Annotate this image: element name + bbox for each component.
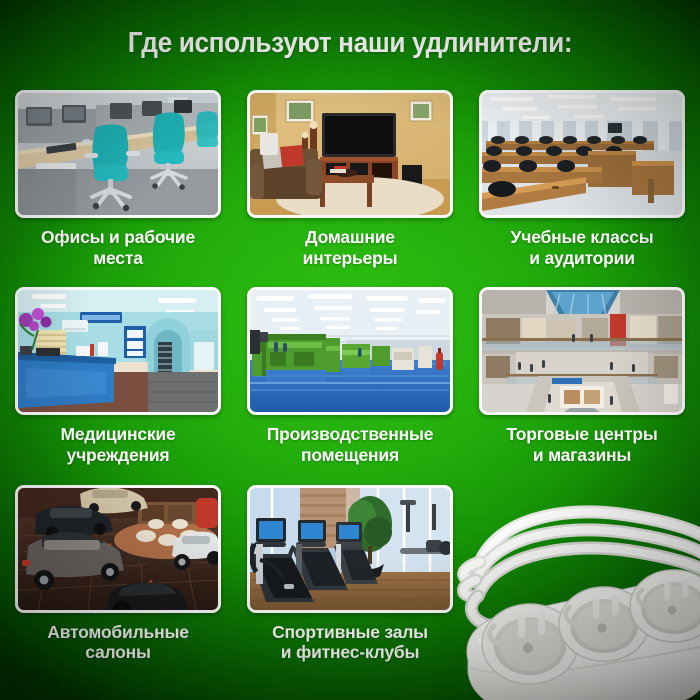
caption-line-1: Торговые центры (506, 424, 657, 445)
caption-line-1: Домашние (303, 227, 398, 248)
caption-line-2: помещения (267, 445, 433, 466)
card-image-frame (15, 90, 221, 218)
card-image-frame (15, 485, 221, 613)
card-caption: Автомобильные салоны (47, 622, 188, 663)
card-caption: Медицинские учреждения (60, 424, 175, 465)
card-caption: Спортивные залы и фитнес-клубы (272, 622, 428, 663)
card-fitness[interactable]: Спортивные залы и фитнес-клубы (237, 479, 463, 663)
card-offices[interactable]: Офисы и рабочие места (5, 84, 231, 268)
card-caption: Производственные помещения (267, 424, 433, 465)
card-industrial[interactable]: Производственные помещения (237, 281, 463, 465)
caption-line-1: Автомобильные (47, 622, 188, 643)
card-retail[interactable]: Торговые центры и магазины (469, 281, 695, 465)
car-showroom-photo (18, 488, 218, 610)
product-area-placeholder (469, 479, 695, 663)
factory-floor-photo (250, 290, 450, 412)
card-image-frame (247, 90, 453, 218)
clinic-reception-photo (18, 290, 218, 412)
caption-line-2: и аудитории (511, 248, 654, 269)
caption-line-2: салоны (47, 642, 188, 663)
card-car-dealers[interactable]: Автомобильные салоны (5, 479, 231, 663)
card-image-frame (479, 90, 685, 218)
caption-line-2: и магазины (506, 445, 657, 466)
card-caption: Торговые центры и магазины (506, 424, 657, 465)
caption-line-2: учреждения (60, 445, 175, 466)
cards-row: Медицинские учреждения (0, 281, 700, 465)
card-image-frame (15, 287, 221, 415)
caption-line-1: Производственные (267, 424, 433, 445)
card-image-frame (247, 485, 453, 613)
office-workspace-photo (18, 93, 218, 215)
lecture-hall-photo (482, 93, 682, 215)
caption-line-2: интерьеры (303, 248, 398, 269)
caption-line-2: места (41, 248, 195, 269)
cards-grid: Офисы и рабочие места (0, 84, 700, 663)
card-caption: Офисы и рабочие места (41, 227, 195, 268)
caption-line-1: Офисы и рабочие (41, 227, 195, 248)
poster: Где используют наши удлинители: (0, 0, 700, 700)
card-image-frame (247, 287, 453, 415)
cards-row: Офисы и рабочие места (0, 84, 700, 268)
card-caption: Учебные классы и аудитории (511, 227, 654, 268)
caption-line-1: Спортивные залы (272, 622, 428, 643)
card-home[interactable]: Домашние интерьеры (237, 84, 463, 268)
page-title: Где используют наши удлинители: (28, 27, 672, 60)
shopping-mall-photo (482, 290, 682, 412)
caption-line-1: Учебные классы (511, 227, 654, 248)
cards-row: Автомобильные салоны (0, 479, 700, 663)
home-living-room-photo (250, 93, 450, 215)
caption-line-1: Медицинские (60, 424, 175, 445)
caption-line-2: и фитнес-клубы (272, 642, 428, 663)
card-classrooms[interactable]: Учебные классы и аудитории (469, 84, 695, 268)
card-image-frame (479, 287, 685, 415)
card-caption: Домашние интерьеры (303, 227, 398, 268)
gym-treadmills-photo (250, 488, 450, 610)
card-medical[interactable]: Медицинские учреждения (5, 281, 231, 465)
